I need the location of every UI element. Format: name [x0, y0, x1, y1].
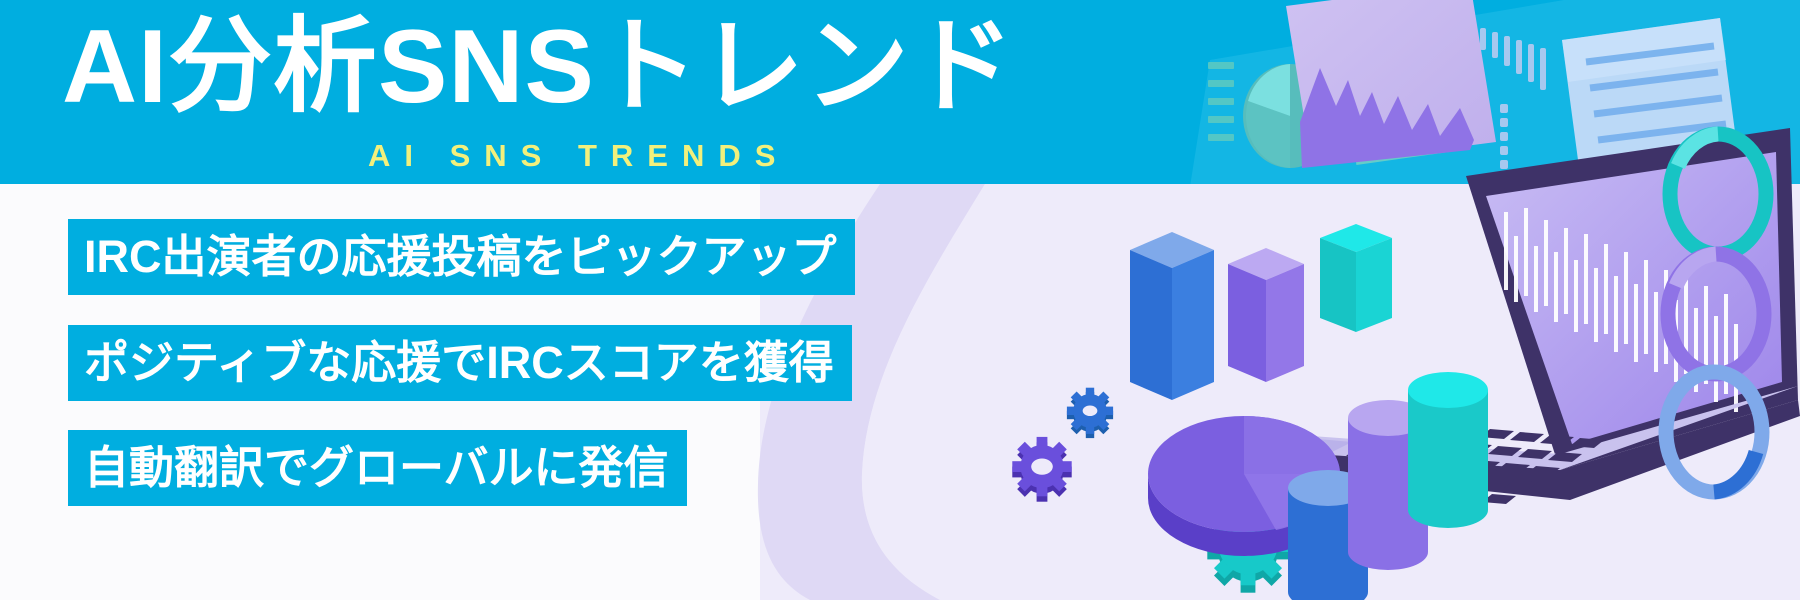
feature-bar-2: ポジティブな応援でIRCスコアを獲得 [68, 325, 852, 401]
page-subtitle: AI SNS TRENDS [368, 138, 789, 174]
feature-bar-3: 自動翻訳でグローバルに発信 [68, 430, 687, 506]
feature-label-1: IRC出演者の応援投稿をピックアップ [84, 231, 837, 283]
title-block: AI分析SNSトレンド AI SNS TRENDS [0, 0, 1300, 184]
feature-label-2: ポジティブな応援でIRCスコアを獲得 [84, 337, 834, 389]
feature-bar-1: IRC出演者の応援投稿をピックアップ [68, 219, 855, 295]
page-title: AI分析SNSトレンド [62, 8, 1015, 126]
feature-label-3: 自動翻訳でグローバルに発信 [84, 442, 669, 494]
promo-banner: AI分析SNSトレンド AI SNS TRENDS IRC出演者の応援投稿をピッ… [0, 0, 1800, 600]
